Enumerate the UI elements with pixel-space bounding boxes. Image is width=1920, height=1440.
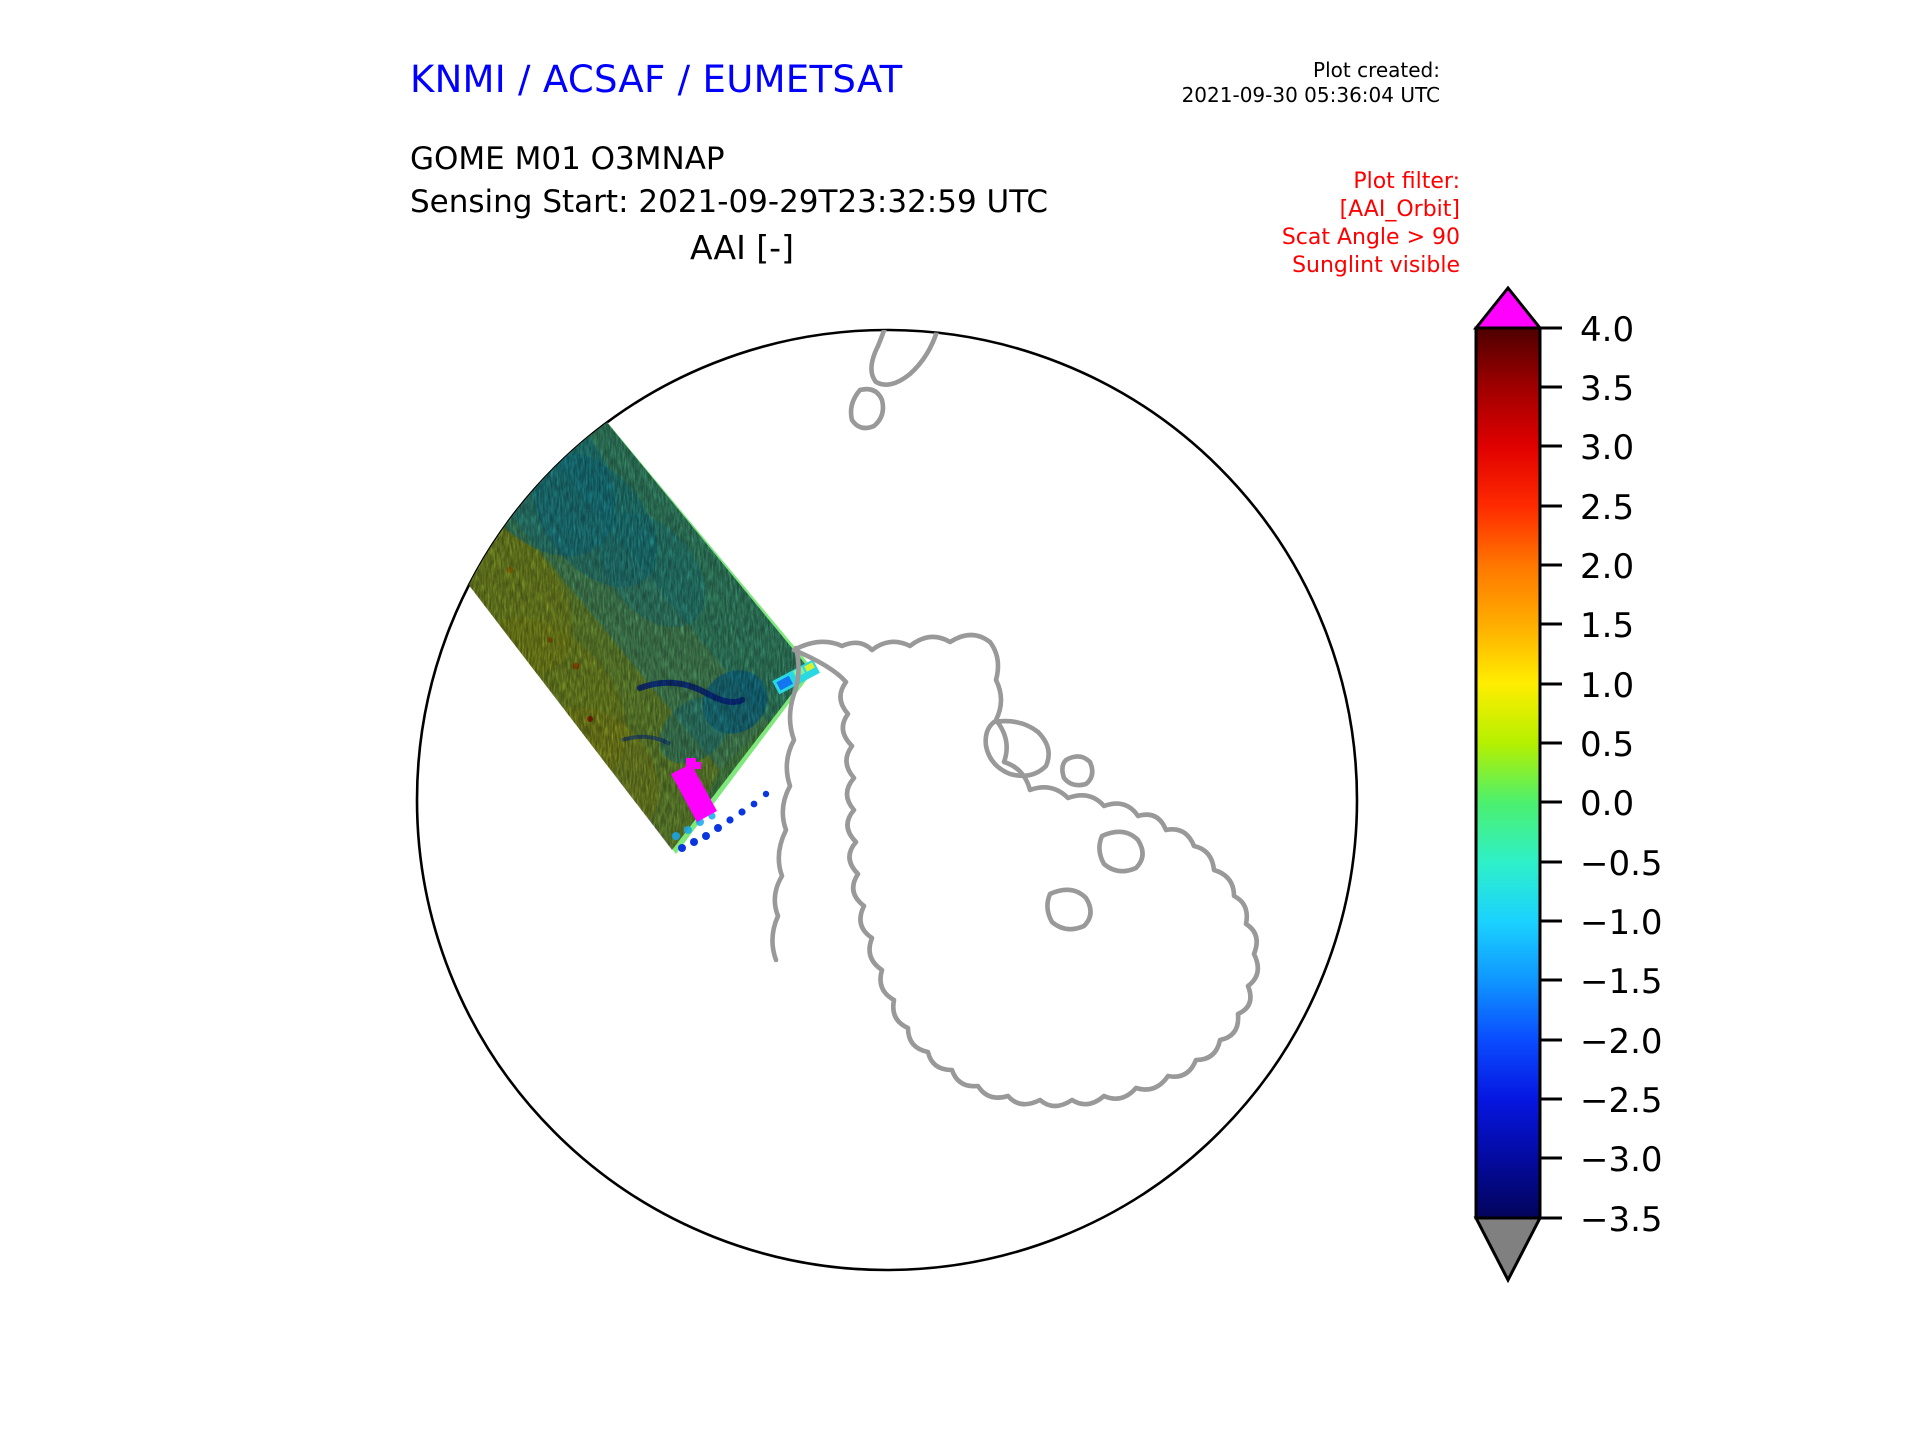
map-panel <box>390 270 1420 1330</box>
plot-filter-block: Plot filter: [AAI_Orbit] Scat Angle > 90… <box>1170 168 1460 280</box>
variable-title: AAI [-] <box>690 228 794 267</box>
colorbar-tick-label: −1.5 <box>1580 962 1663 1002</box>
product-name: GOME M01 O3MNAP <box>410 138 1048 181</box>
colorbar-tick-label: 1.5 <box>1580 606 1634 646</box>
colorbar-tick-labels: 4.0 3.5 3.0 2.5 2.0 1.5 1.0 0.5 0.0 −0.5… <box>1580 310 1663 1240</box>
map-svg <box>390 270 1420 1330</box>
colorbar-tick-label: 2.5 <box>1580 488 1634 528</box>
colorbar-tick-label: 3.5 <box>1580 369 1634 409</box>
plot-created-label: Plot created: <box>1120 58 1440 83</box>
plot-filter-label: Plot filter: <box>1170 168 1460 196</box>
sensing-start: Sensing Start: 2021-09-29T23:32:59 UTC <box>410 181 1048 224</box>
colorbar-tick-label: 2.0 <box>1580 547 1634 587</box>
colorbar-tick-label: 0.5 <box>1580 725 1634 765</box>
organisation-header: KNMI / ACSAF / EUMETSAT <box>410 58 903 101</box>
colorbar-tick-label: −2.5 <box>1580 1081 1663 1121</box>
colorbar-tick-label: 1.0 <box>1580 666 1634 706</box>
colorbar-tick-label: −0.5 <box>1580 844 1663 884</box>
colorbar-tick-label: −2.0 <box>1580 1022 1663 1062</box>
colorbar-tick-label: −1.0 <box>1580 903 1663 943</box>
coastline-island-west <box>390 968 393 999</box>
coastline-south-america <box>1389 941 1420 1008</box>
product-title-block: GOME M01 O3MNAP Sensing Start: 2021-09-2… <box>410 138 1048 224</box>
plot-filter-orbit: [AAI_Orbit] <box>1170 196 1460 224</box>
colorbar-tick-label: −3.5 <box>1580 1200 1663 1240</box>
coastline-tierra-del-fuego <box>1408 1025 1420 1057</box>
colorbar-tick-label: 3.0 <box>1580 428 1634 468</box>
colorbar-svg: 4.0 3.5 3.0 2.5 2.0 1.5 1.0 0.5 0.0 −0.5… <box>1440 280 1860 1310</box>
colorbar-tick-label: −3.0 <box>1580 1140 1663 1180</box>
colorbar-under-arrow <box>1476 1218 1540 1280</box>
colorbar-tick-label: 0.0 <box>1580 784 1634 824</box>
colorbar-over-arrow <box>1476 288 1540 328</box>
colorbar-ticks <box>1540 328 1562 1218</box>
plot-created-block: Plot created: 2021-09-30 05:36:04 UTC <box>1120 58 1440 108</box>
plot-filter-scat-angle: Scat Angle > 90 <box>1170 224 1460 252</box>
colorbar-tick-label: 4.0 <box>1580 310 1634 350</box>
colorbar-gradient <box>1476 328 1540 1218</box>
colorbar-panel: 4.0 3.5 3.0 2.5 2.0 1.5 1.0 0.5 0.0 −0.5… <box>1440 280 1860 1310</box>
plot-created-value: 2021-09-30 05:36:04 UTC <box>1120 83 1440 108</box>
